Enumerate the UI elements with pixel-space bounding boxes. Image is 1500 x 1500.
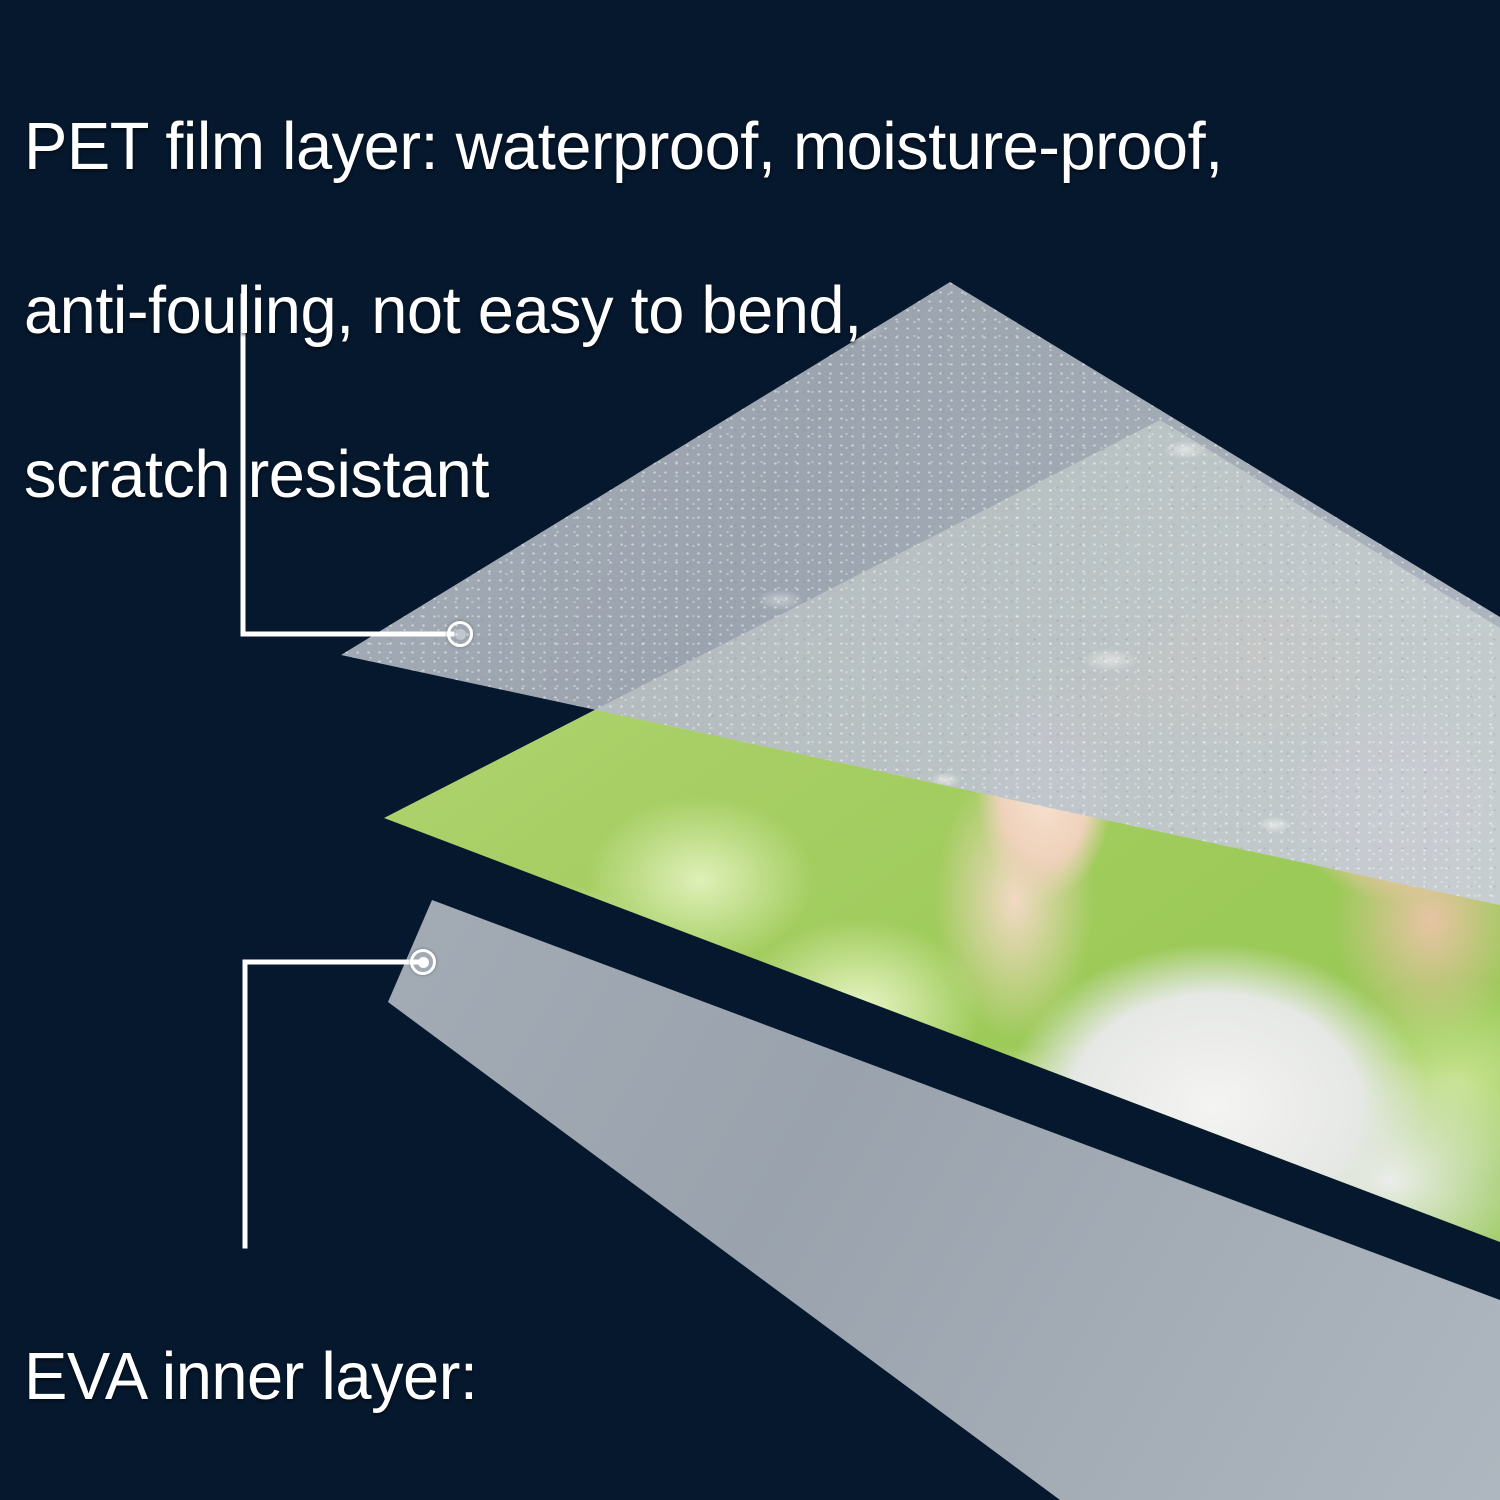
eva-inner-callout-text: EVA inner layer: single piece evenly coa… bbox=[24, 1254, 1188, 1500]
pet-film-text-line-3: scratch resistant bbox=[24, 434, 1450, 516]
pet-film-callout-dot-icon bbox=[447, 621, 473, 647]
eva-inner-callout-dot-core bbox=[418, 957, 429, 968]
pet-film-text-line-1: PET film layer: waterproof, moisture-pro… bbox=[24, 106, 1450, 188]
infographic-canvas: PET film layer: waterproof, moisture-pro… bbox=[0, 0, 1500, 1500]
pet-film-callout-dot-core bbox=[455, 629, 466, 640]
eva-inner-text-line-1: EVA inner layer: bbox=[24, 1336, 1188, 1418]
pet-film-callout-text: PET film layer: waterproof, moisture-pro… bbox=[24, 24, 1450, 598]
pet-film-text-line-2: anti-fouling, not easy to bend, bbox=[24, 270, 1450, 352]
eva-inner-callout-dot-icon bbox=[410, 949, 436, 975]
eva-inner-leader-line bbox=[245, 962, 417, 1246]
